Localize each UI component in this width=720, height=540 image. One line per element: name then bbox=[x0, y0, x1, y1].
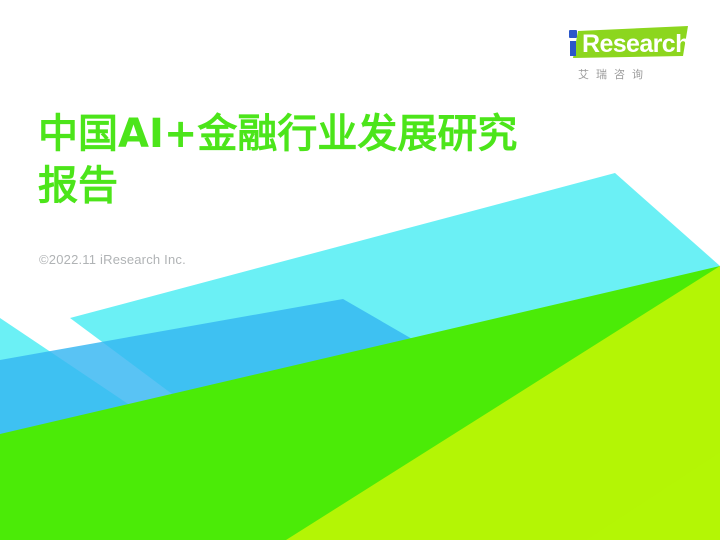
logo-i-stem-icon bbox=[570, 41, 576, 56]
title-line-1: 中国AI+金融行业发展研究 bbox=[38, 108, 598, 160]
page-title: 中国AI+金融行业发展研究 报告 bbox=[38, 108, 598, 212]
logo-wordmark: Research bbox=[582, 29, 690, 59]
report-cover: Research 艾瑞咨询 中国AI+金融行业发展研究 报告 ©2022.11 … bbox=[0, 0, 720, 540]
logo-chinese-name: 艾瑞咨询 bbox=[578, 66, 650, 82]
iresearch-logo: Research 艾瑞咨询 bbox=[562, 26, 694, 90]
title-line-2: 报告 bbox=[38, 160, 598, 212]
logo-letter-i-icon bbox=[569, 30, 578, 56]
copyright-notice: ©2022.11 iResearch Inc. bbox=[39, 252, 186, 267]
logo-mark: Research bbox=[562, 26, 694, 62]
logo-i-dot-icon bbox=[569, 30, 577, 38]
